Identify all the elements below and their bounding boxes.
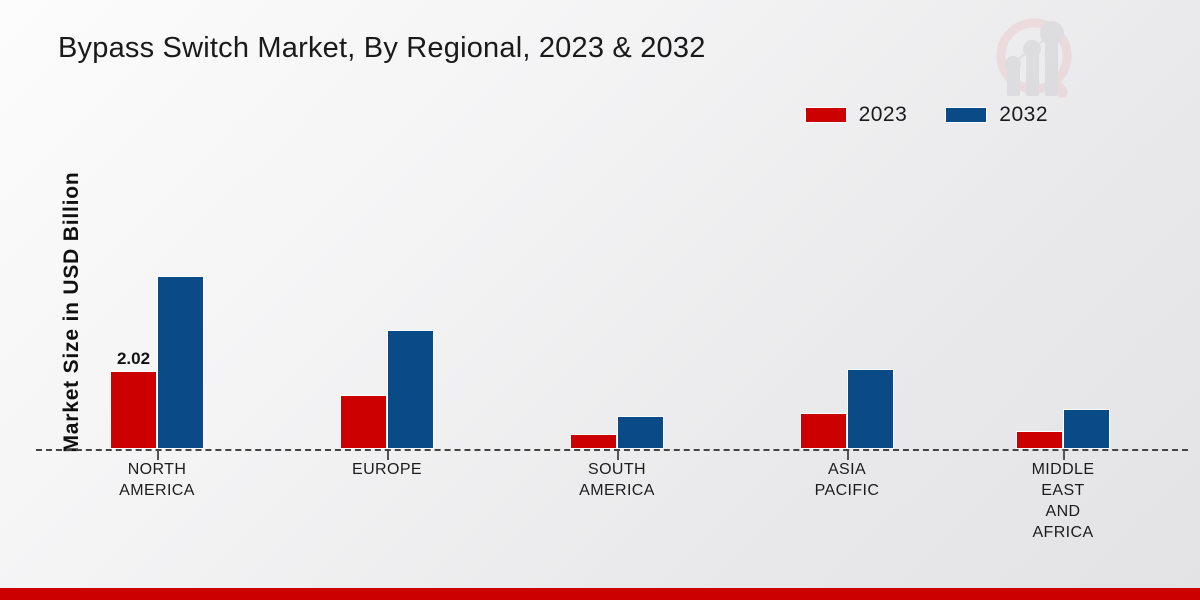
x-axis-label-line: NORTH xyxy=(67,459,247,480)
bar-middle-east-africa-2032[interactable] xyxy=(1063,409,1110,449)
x-axis-label-middle-east-africa: MIDDLEEASTANDAFRICA xyxy=(973,459,1153,543)
bar-value-label-north-america-2023: 2.02 xyxy=(117,349,150,369)
x-axis-label-line: AMERICA xyxy=(67,480,247,501)
x-axis-label-line: EUROPE xyxy=(297,459,477,480)
x-axis-baseline xyxy=(36,449,1188,451)
x-axis-label-line: PACIFIC xyxy=(757,480,937,501)
bar-south-america-2032[interactable] xyxy=(617,416,664,449)
x-axis-label-line: SOUTH xyxy=(527,459,707,480)
x-axis-label-line: AFRICA xyxy=(973,522,1153,543)
x-axis-label-south-america: SOUTHAMERICA xyxy=(527,459,707,501)
plot-area: 2.02 NORTHAMERICAEUROPESOUTHAMERICAASIAP… xyxy=(0,0,1200,600)
bottom-accent-bar xyxy=(0,588,1200,600)
x-axis-label-north-america: NORTHAMERICA xyxy=(67,459,247,501)
x-axis-label-line: MIDDLE xyxy=(973,459,1153,480)
bar-group-asia-pacific xyxy=(800,119,894,449)
bar-group-middle-east-africa xyxy=(1016,119,1110,449)
bar-north-america-2032[interactable] xyxy=(157,276,204,449)
bar-group-north-america: 2.02 xyxy=(110,119,204,449)
bar-middle-east-africa-2023[interactable] xyxy=(1016,431,1063,449)
bar-europe-2023[interactable] xyxy=(340,395,387,449)
bar-europe-2032[interactable] xyxy=(387,330,434,449)
x-axis-label-europe: EUROPE xyxy=(297,459,477,480)
x-axis-label-line: EAST xyxy=(973,480,1153,501)
bar-asia-pacific-2032[interactable] xyxy=(847,369,894,449)
chart-container: Bypass Switch Market, By Regional, 2023 … xyxy=(0,0,1200,600)
bar-north-america-2023[interactable]: 2.02 xyxy=(110,371,157,449)
bar-asia-pacific-2023[interactable] xyxy=(800,413,847,449)
x-axis-label-line: AND xyxy=(973,501,1153,522)
bar-group-europe xyxy=(340,119,434,449)
x-axis-label-line: ASIA xyxy=(757,459,937,480)
bar-south-america-2023[interactable] xyxy=(570,434,617,449)
bar-group-south-america xyxy=(570,119,664,449)
x-axis-label-line: AMERICA xyxy=(527,480,707,501)
x-axis-label-asia-pacific: ASIAPACIFIC xyxy=(757,459,937,501)
